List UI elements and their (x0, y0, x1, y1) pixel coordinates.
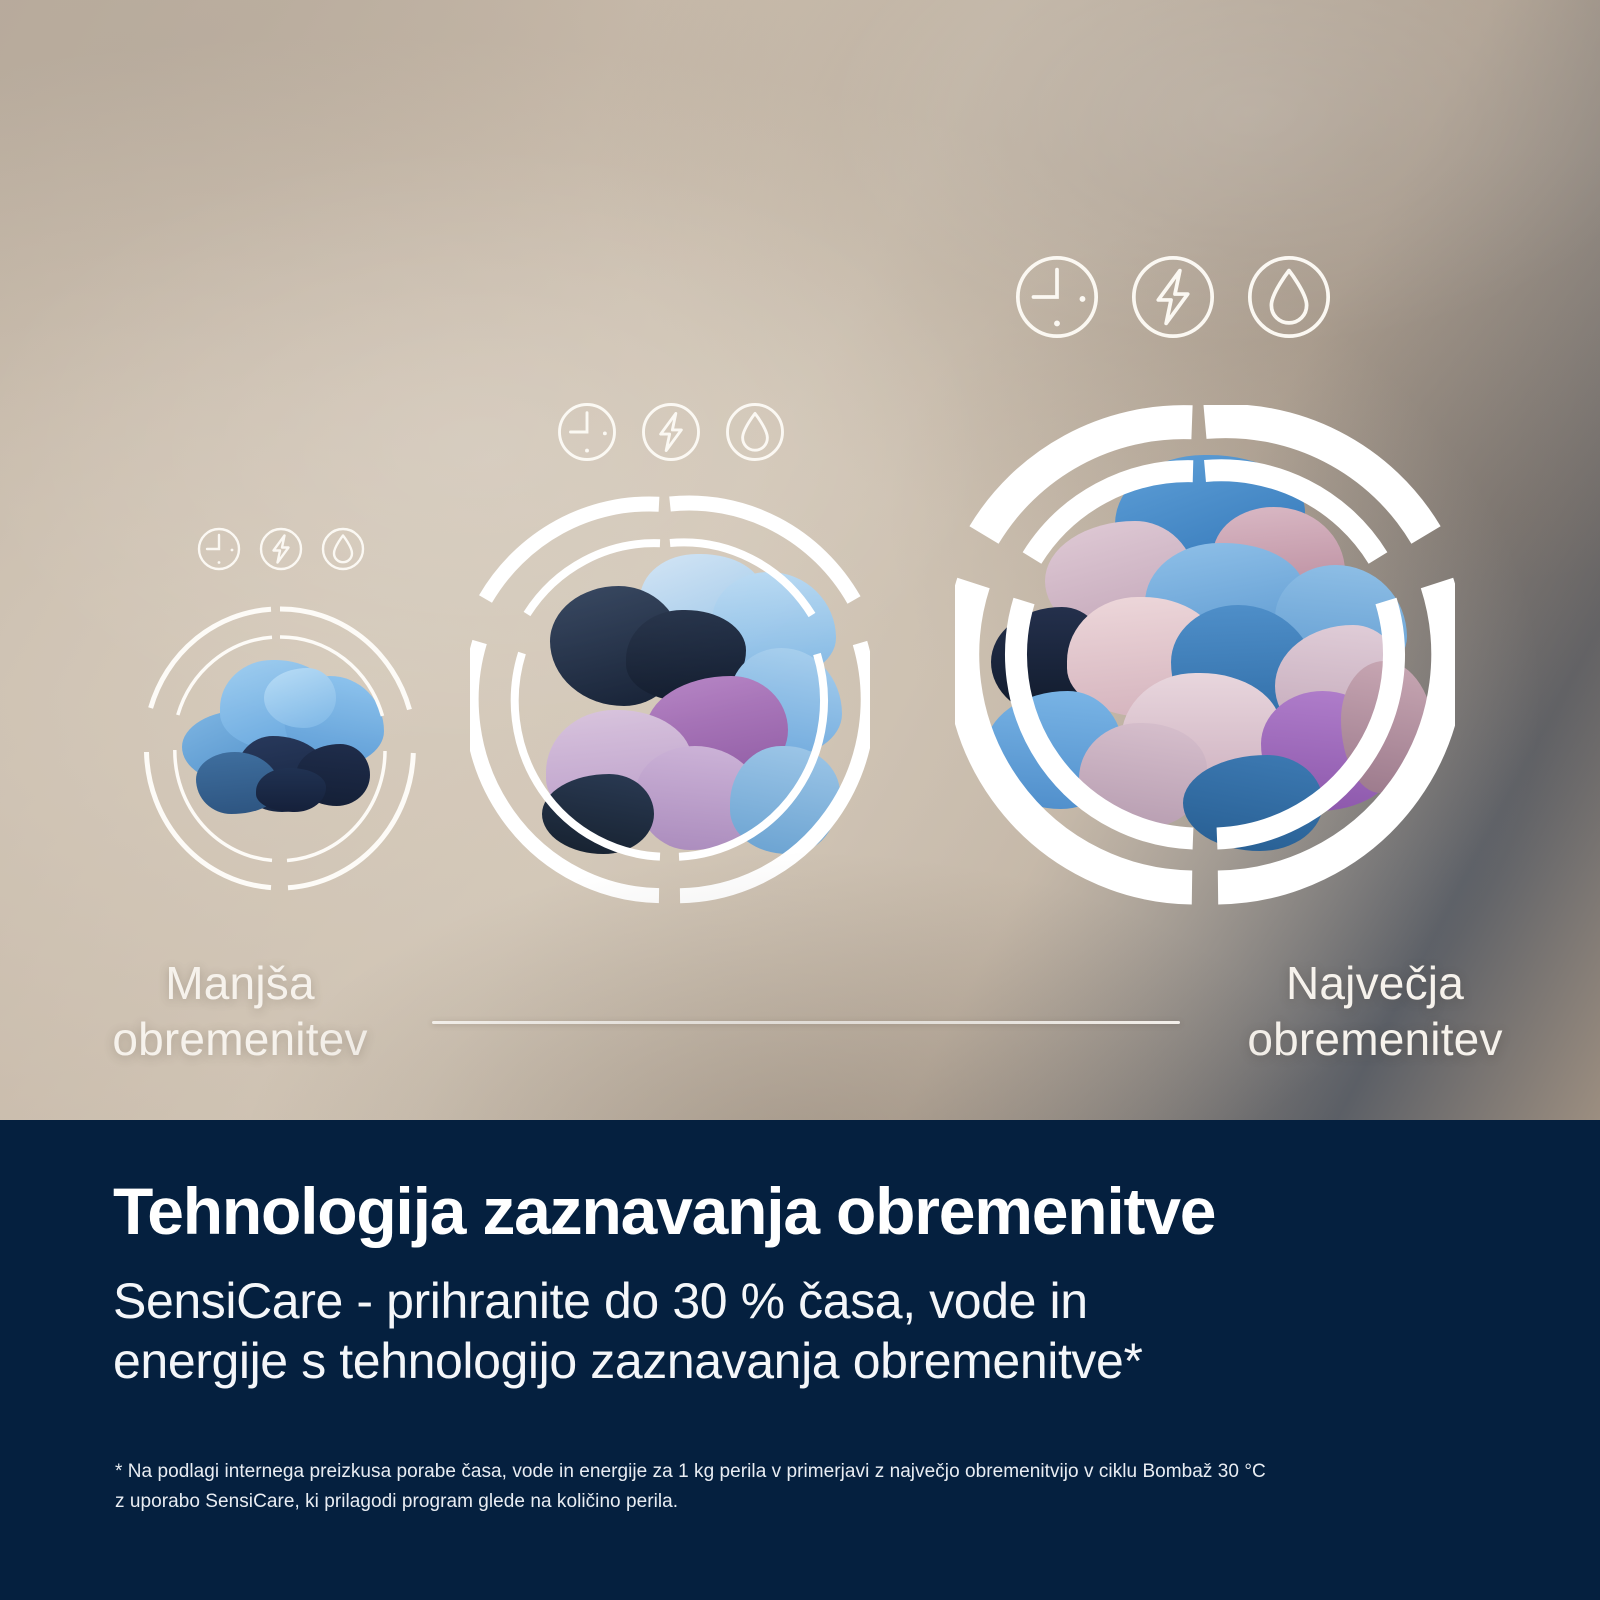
small-ring-inner-arcs (175, 637, 385, 861)
small-load-caption-line2: obremenitev (40, 1011, 440, 1067)
large-load-ring (955, 405, 1455, 905)
small-load-icons (195, 525, 367, 573)
water-drop-icon (1242, 250, 1336, 344)
small-ring-arcs (147, 609, 414, 888)
small-load-caption: Manjša obremenitev (40, 955, 440, 1067)
lightning-bolt-icon (257, 525, 305, 573)
medium-ring-arcs (471, 503, 868, 896)
panel-footnote-line1: * Na podlagi internega preizkusa porabe … (115, 1457, 1515, 1487)
small-load-caption-line1: Manjša (40, 955, 440, 1011)
clock-icon (195, 525, 243, 573)
panel-subtitle: SensiCare - prihranite do 30 % časa, vod… (113, 1271, 1453, 1391)
panel-subtitle-line1: SensiCare - prihranite do 30 % časa, vod… (113, 1271, 1453, 1331)
medium-load-icons (554, 399, 788, 465)
medium-ring-inner-arcs (515, 542, 824, 856)
large-load-caption: Največja obremenitev (1175, 955, 1575, 1067)
lightning-bolt-icon (638, 399, 704, 465)
panel-title: Tehnologija zaznavanja obremenitve (113, 1172, 1533, 1250)
medium-load-group (470, 395, 870, 905)
medium-load-ring (470, 495, 870, 905)
small-load-ring (140, 603, 420, 893)
panel-footnote-line2: z uporabo SensiCare, ki prilagodi progra… (115, 1487, 1515, 1517)
lightning-bolt-icon (1126, 250, 1220, 344)
load-scale-divider (432, 1021, 1180, 1024)
large-ring-arcs (962, 421, 1448, 887)
large-load-icons (1010, 250, 1336, 344)
hero-image-area: Manjša obremenitev Največja obremenitev (0, 0, 1600, 1120)
small-load-group (140, 515, 420, 905)
large-ring-inner-arcs (1016, 470, 1394, 838)
panel-subtitle-line2: energije s tehnologijo zaznavanja obreme… (113, 1331, 1453, 1391)
clock-icon (554, 399, 620, 465)
clock-icon (1010, 250, 1104, 344)
panel-footnote: * Na podlagi internega preizkusa porabe … (115, 1457, 1515, 1517)
large-load-group (955, 250, 1455, 905)
advertisement-page: Manjša obremenitev Največja obremenitev … (0, 0, 1600, 1600)
water-drop-icon (722, 399, 788, 465)
large-load-caption-line1: Največja (1175, 955, 1575, 1011)
water-drop-icon (319, 525, 367, 573)
large-load-caption-line2: obremenitev (1175, 1011, 1575, 1067)
